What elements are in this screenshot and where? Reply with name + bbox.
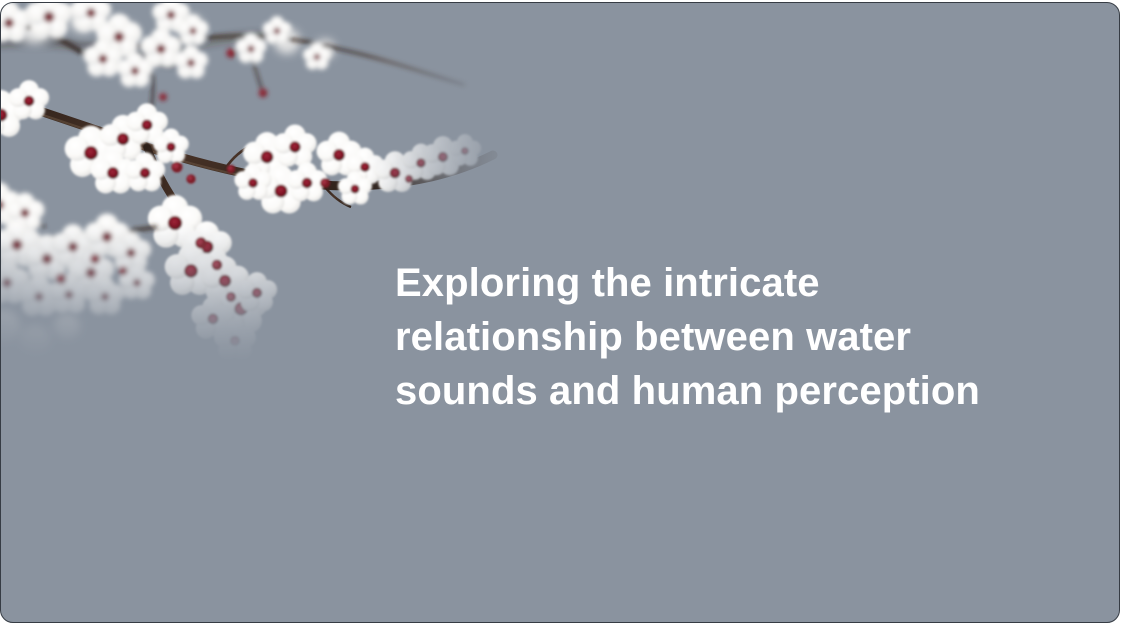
heading-line-3: sounds and human perception bbox=[395, 364, 1075, 418]
slide-heading: Exploring the intricate relationship bet… bbox=[395, 256, 1075, 418]
heading-line-2: relationship between water bbox=[395, 310, 1075, 364]
heading-line-1: Exploring the intricate bbox=[395, 256, 1075, 310]
presentation-slide: Exploring the intricate relationship bet… bbox=[0, 2, 1120, 623]
